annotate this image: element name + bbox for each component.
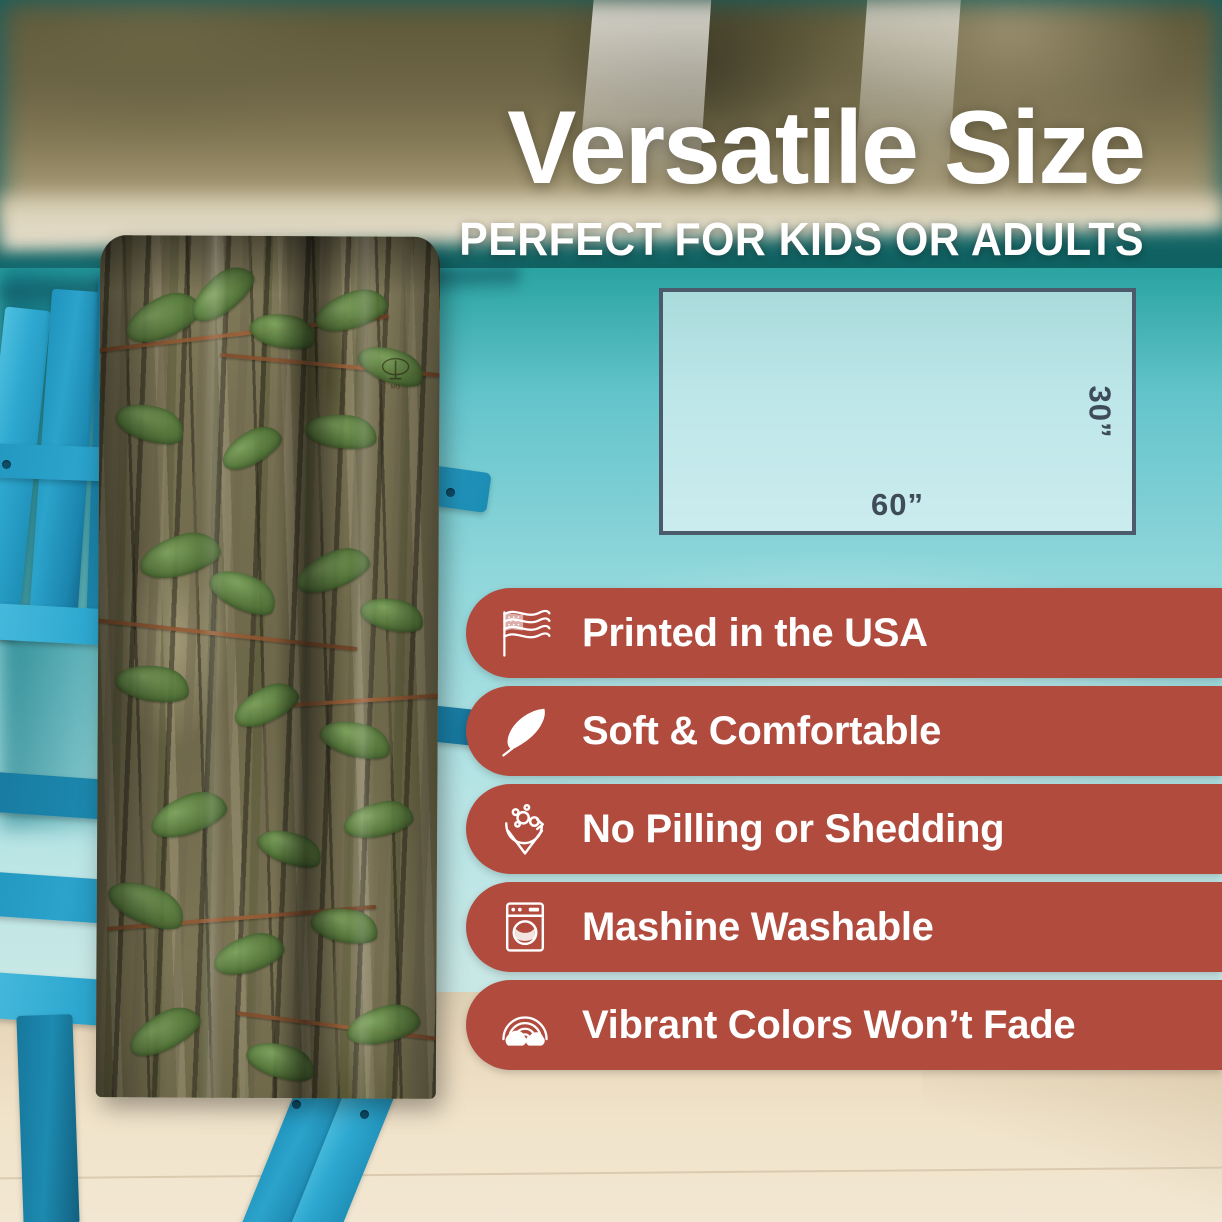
no-pilling-icon [490,794,560,864]
dimension-width-label: 60” [663,487,1132,523]
feature-bar-machine-washable[interactable]: Mashine Washable [466,882,1222,972]
towel-fold-highlight [198,236,229,1098]
feature-label: Vibrant Colors Won’t Fade [582,1003,1075,1048]
svg-text:MO: MO [391,385,401,391]
chair-screw [360,1110,369,1119]
towel-center-fold-shading [273,236,348,1098]
towel-fold-highlight [347,236,378,1098]
washing-machine-icon [490,892,560,962]
rainbow-icon [490,990,560,1060]
chair-screw [446,488,455,497]
feature-label: Mashine Washable [582,905,934,950]
chair-leg [16,1014,79,1222]
towel-left-shading [96,235,173,1097]
dimension-diagram: 60” 30” [659,288,1136,535]
chair-screw [292,1100,301,1109]
page-title: Versatile Size [0,96,1144,200]
feature-bar-no-pilling[interactable]: No Pilling or Shedding [466,784,1222,874]
feature-label: Printed in the USA [582,611,928,656]
infographic-canvas: MO Versatile Size PERFECT FOR KIDS OR AD… [0,0,1222,1222]
feature-list: Printed in the USA Soft & Comfortable [466,588,1222,1078]
feature-bar-printed-in-usa[interactable]: Printed in the USA [466,588,1222,678]
header-block: Versatile Size PERFECT FOR KIDS OR ADULT… [0,96,1180,266]
feature-label: No Pilling or Shedding [582,807,1004,852]
feather-icon [490,696,560,766]
feature-label: Soft & Comfortable [582,709,941,754]
page-subtitle: PERFECT FOR KIDS OR ADULTS [80,212,1144,266]
chair-screw [2,460,11,469]
dimension-height-label: 30” [1082,385,1118,438]
feature-bar-vibrant-colors[interactable]: Vibrant Colors Won’t Fade [466,980,1222,1070]
camo-beach-towel: MO [96,235,441,1099]
feature-bar-soft-comfortable[interactable]: Soft & Comfortable [466,686,1222,776]
usa-flag-icon [490,598,560,668]
brand-logo-icon: MO [375,355,415,393]
